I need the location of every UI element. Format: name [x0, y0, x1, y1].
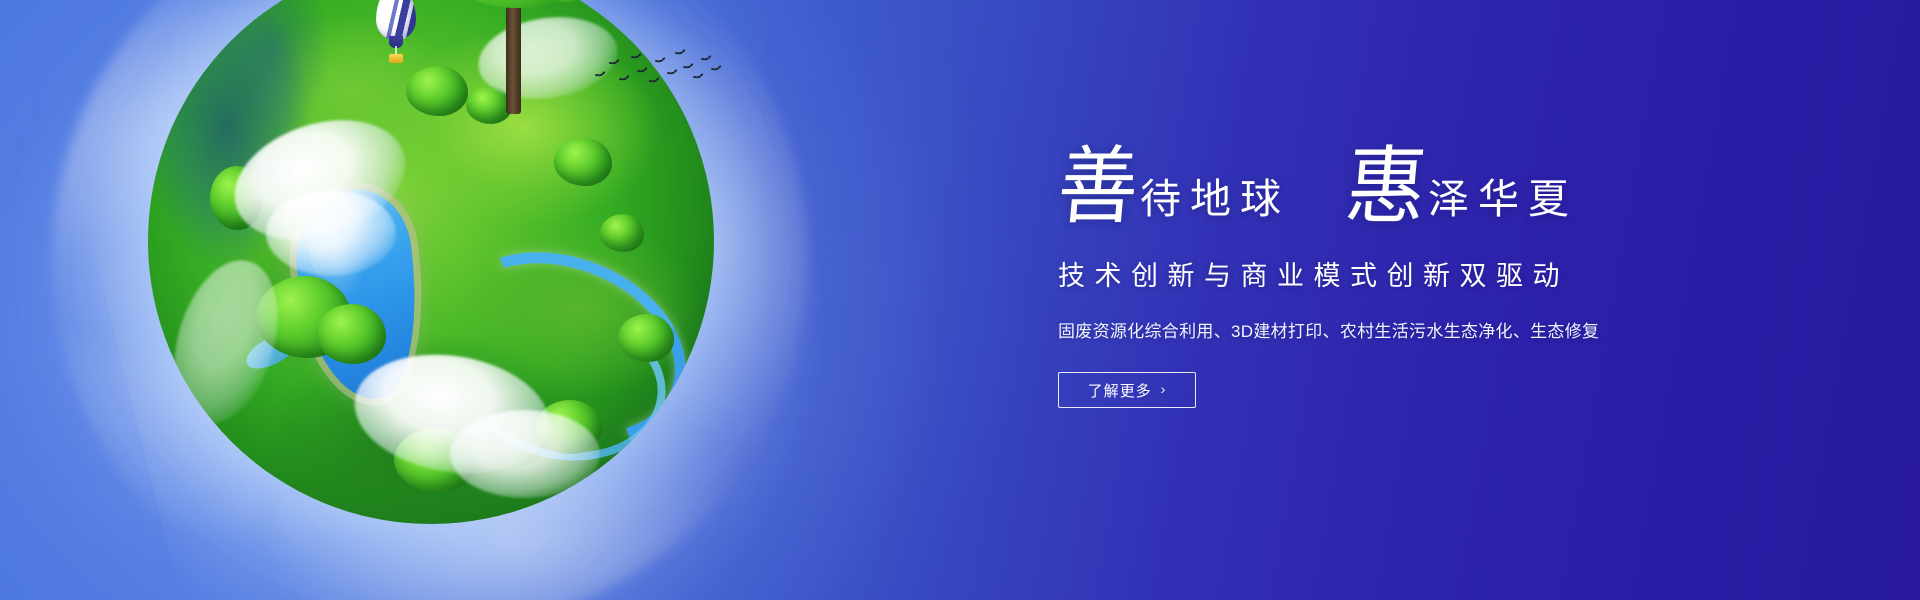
- hero-tree-icon: [420, 0, 610, 110]
- tree-canopy: [316, 304, 386, 364]
- hero-banner: 善 待地球 惠 泽华夏 技术创新与商业模式创新双驱动 固废资源化综合利用、3D建…: [0, 0, 1920, 600]
- cloud-puff: [266, 190, 396, 276]
- page-title: 善 待地球 惠 泽华夏: [1058, 140, 1818, 226]
- learn-more-label: 了解更多: [1088, 380, 1152, 401]
- headline-calligraphic-char-1: 善: [1055, 150, 1142, 228]
- hero-description: 固废资源化综合利用、3D建材打印、农村生活污水生态净化、生态修复: [1058, 317, 1818, 342]
- hero-copy-block: 善 待地球 惠 泽华夏 技术创新与商业模式创新双驱动 固废资源化综合利用、3D建…: [1058, 140, 1818, 408]
- tree-trunk: [506, 0, 521, 114]
- chevron-right-icon: ›: [1161, 382, 1167, 396]
- bird-flock-icon: [596, 48, 726, 88]
- hero-subtitle: 技术创新与商业模式创新双驱动: [1058, 254, 1818, 293]
- tree-canopy: [618, 314, 674, 362]
- tree-canopy: [600, 214, 644, 252]
- headline-text-2: 泽华夏: [1428, 179, 1578, 226]
- headline-calligraphic-char-2: 惠: [1343, 150, 1430, 228]
- balloon-envelope: [376, 0, 416, 40]
- headline-text-1: 待地球: [1140, 179, 1290, 226]
- tree-canopy: [554, 138, 612, 186]
- balloon-basket: [389, 54, 403, 63]
- hot-air-balloon-icon: [376, 0, 420, 68]
- learn-more-button[interactable]: 了解更多 ›: [1058, 372, 1196, 408]
- cloud-puff: [450, 410, 600, 498]
